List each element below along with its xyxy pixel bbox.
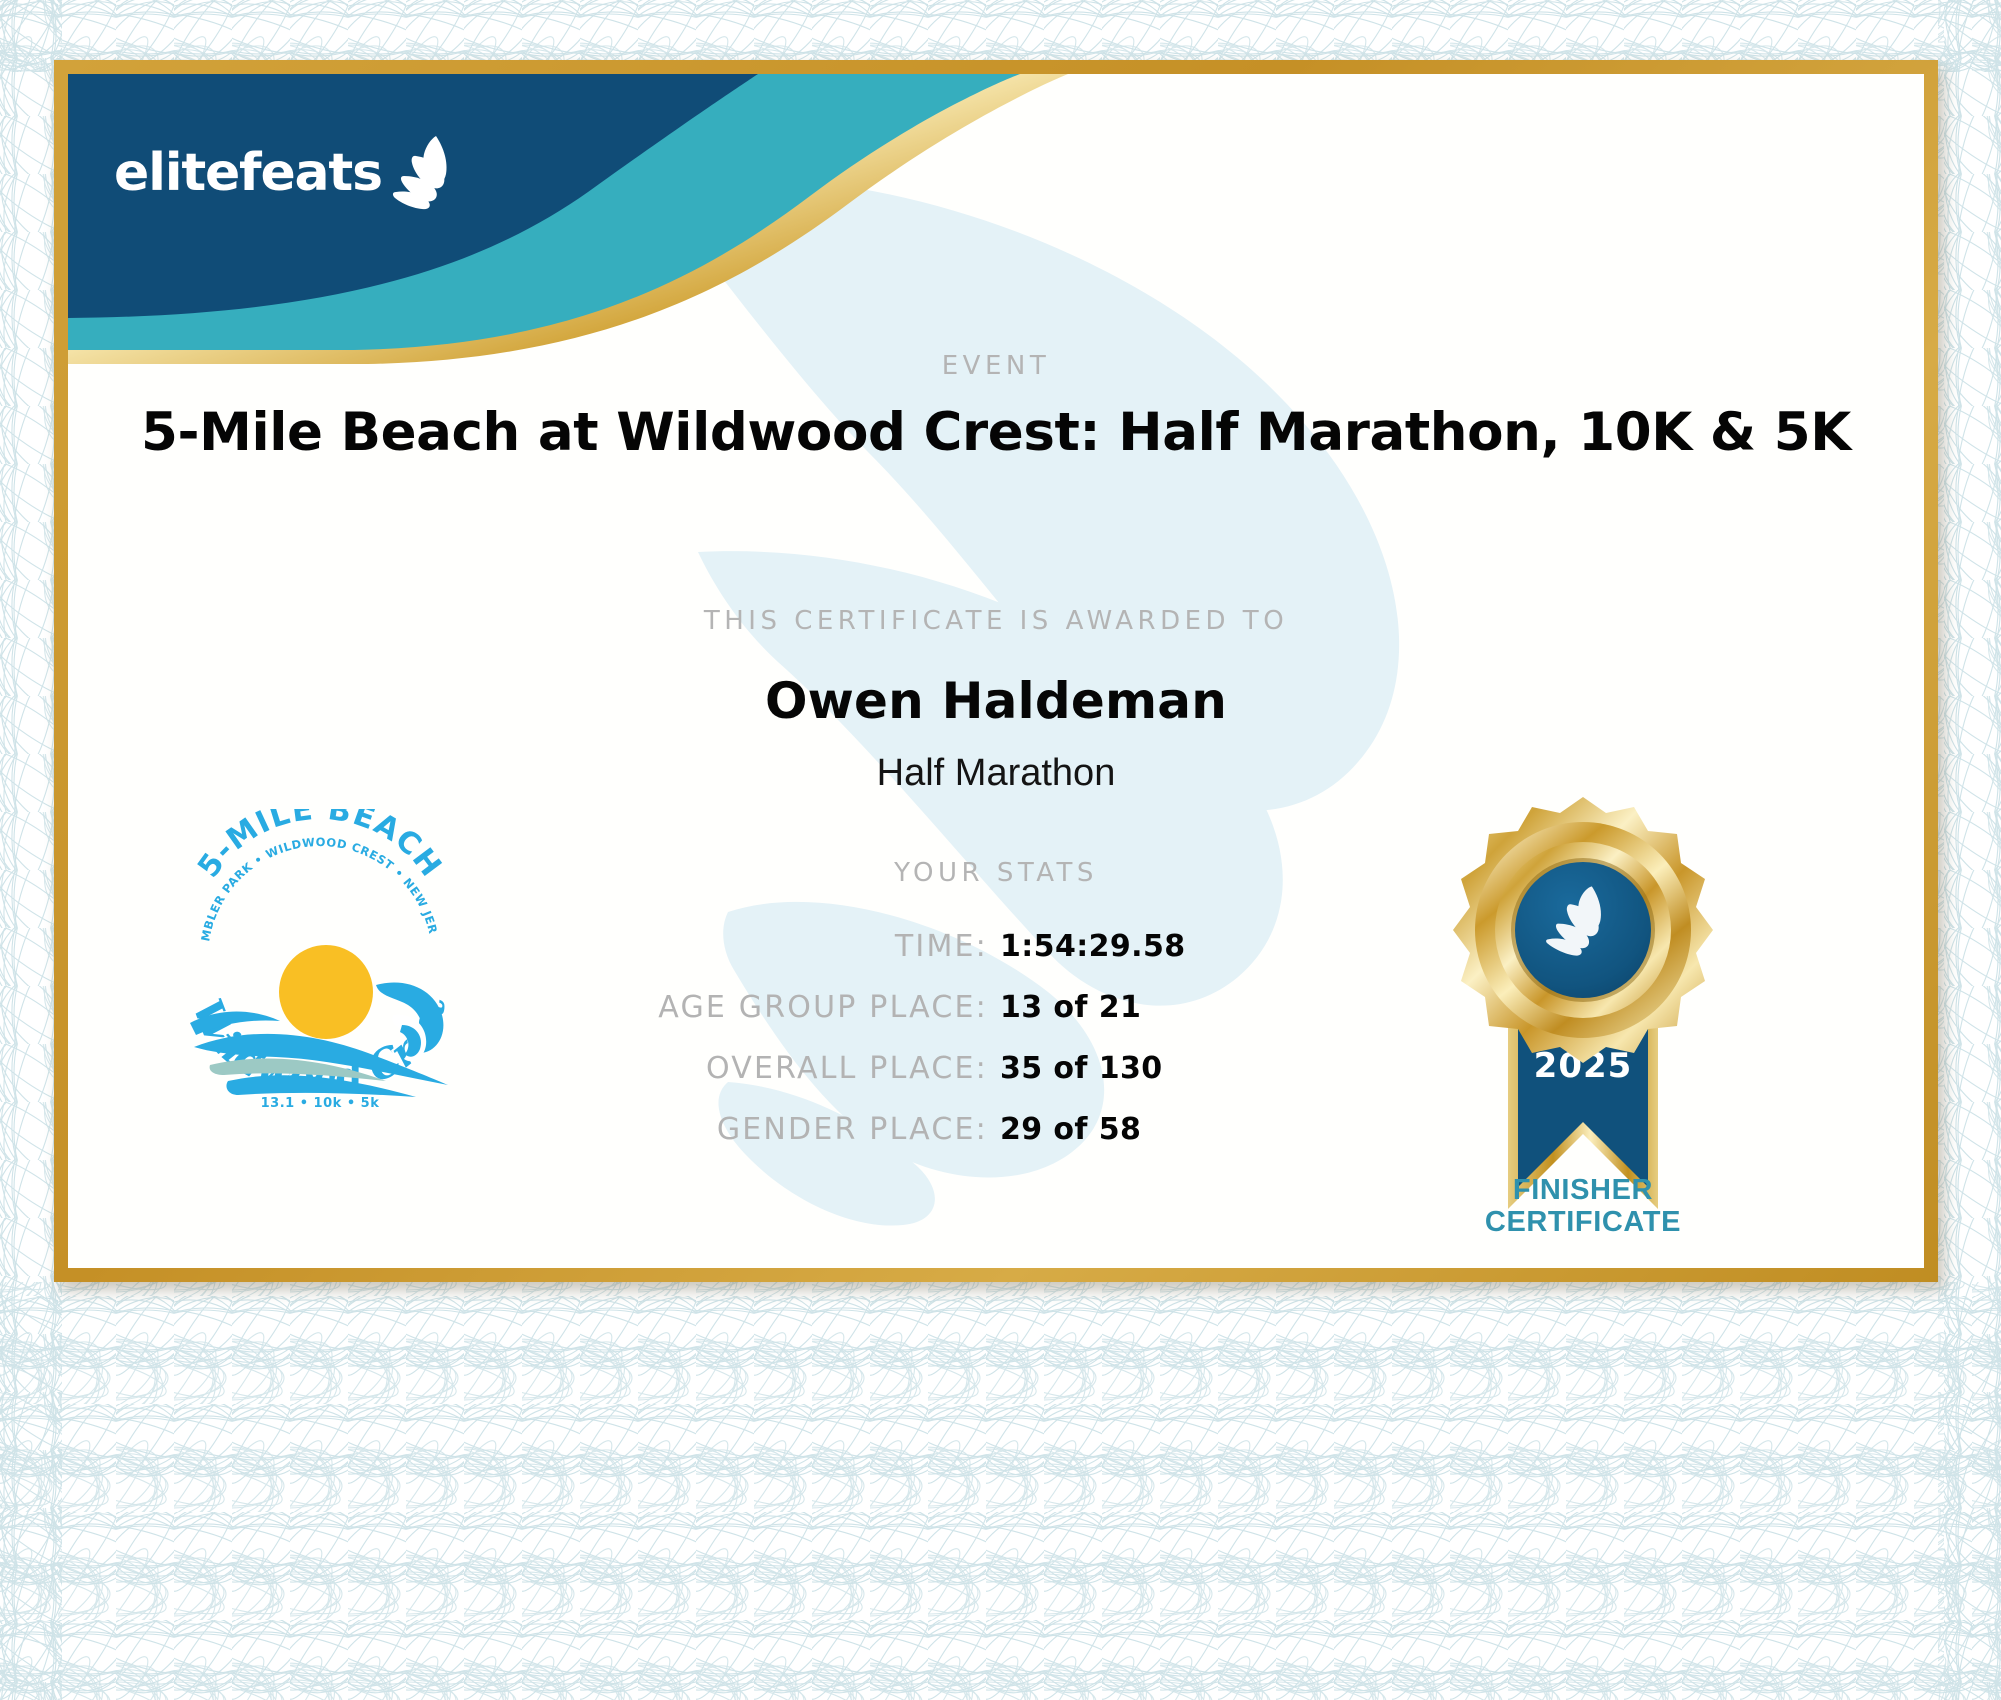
stat-value-gender-place: 29 of 58 [988,1112,1408,1147]
stat-label-overall-place: OVERALL PLACE: [468,1051,988,1086]
logo-distances-text: 13.1 • 10k • 5k [261,1096,380,1109]
stat-value-overall-place: 35 of 130 [988,1051,1408,1086]
stat-label-time: TIME: [468,929,988,964]
stat-value-time: 1:54:29.58 [988,929,1408,964]
wildwood-crest-event-logo: 5-MILE BEACH RAMBLER PARK • WILDWOOD CRE… [180,809,460,1109]
stat-value-age-group-place: 13 of 21 [988,990,1408,1025]
recipient-name: Owen Haldeman [68,672,1924,730]
badge-caption-line1: FINISHER [1513,1174,1653,1206]
badge-caption-line2: CERTIFICATE [1485,1206,1681,1238]
header-swoosh-artwork [68,74,1068,364]
elitefeats-logo: elitefeats [114,134,462,212]
stat-label-age-group-place: AGE GROUP PLACE: [468,990,988,1025]
logo-sun-shape [279,945,373,1039]
certificate-page: elitefeats EVENT 5-Mile Beach at Wildwoo… [0,0,2001,1700]
stat-label-gender-place: GENDER PLACE: [468,1112,988,1147]
event-kicker-label: EVENT [68,351,1924,381]
badge-caption: FINISHER CERTIFICATE [1418,1174,1748,1239]
certificate-paper: elitefeats EVENT 5-Mile Beach at Wildwoo… [68,74,1924,1268]
badge-medal [1453,797,1713,1063]
gold-frame: elitefeats EVENT 5-Mile Beach at Wildwoo… [54,60,1938,1282]
elitefeats-wordmark: elitefeats [114,143,382,203]
awarded-to-kicker-label: THIS CERTIFICATE IS AWARDED TO [68,606,1924,636]
winged-foot-icon [386,134,462,212]
event-title: 5-Mile Beach at Wildwood Crest: Half Mar… [68,402,1924,463]
